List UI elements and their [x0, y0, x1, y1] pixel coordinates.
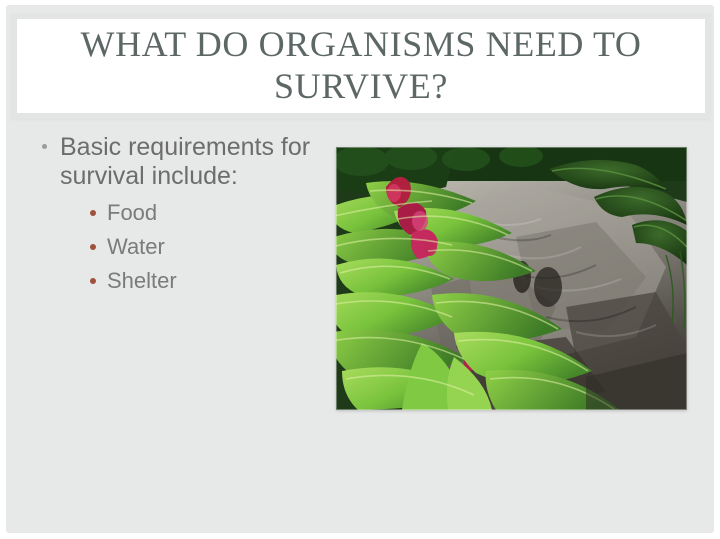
bullet-label: Basic requirements for survival include: [60, 133, 310, 190]
bullet-label: Water [107, 234, 165, 259]
bullet-dot-icon [90, 210, 96, 216]
bullet-list-level2: Food Water Shelter [60, 200, 330, 294]
list-item: Water [88, 234, 330, 259]
slide-title-box: What do organisms need to survive? [11, 13, 711, 119]
slide-photo [336, 147, 687, 410]
bullet-dot-icon [42, 144, 47, 149]
list-item: Food [88, 200, 330, 225]
list-item: Basic requirements for survival include:… [40, 133, 330, 293]
bullet-dot-icon [90, 278, 96, 284]
bullet-list-level1: Basic requirements for survival include:… [40, 133, 330, 293]
bullet-label: Shelter [107, 268, 177, 293]
slide: What do organisms need to survive? Basic… [0, 0, 720, 539]
bullet-dot-icon [90, 244, 96, 250]
list-item: Shelter [88, 268, 330, 293]
page-title: What do organisms need to survive? [17, 24, 705, 108]
bullet-label: Food [107, 200, 157, 225]
tropical-plants-photo-graphic [336, 147, 687, 410]
slide-body: Basic requirements for survival include:… [40, 133, 330, 302]
